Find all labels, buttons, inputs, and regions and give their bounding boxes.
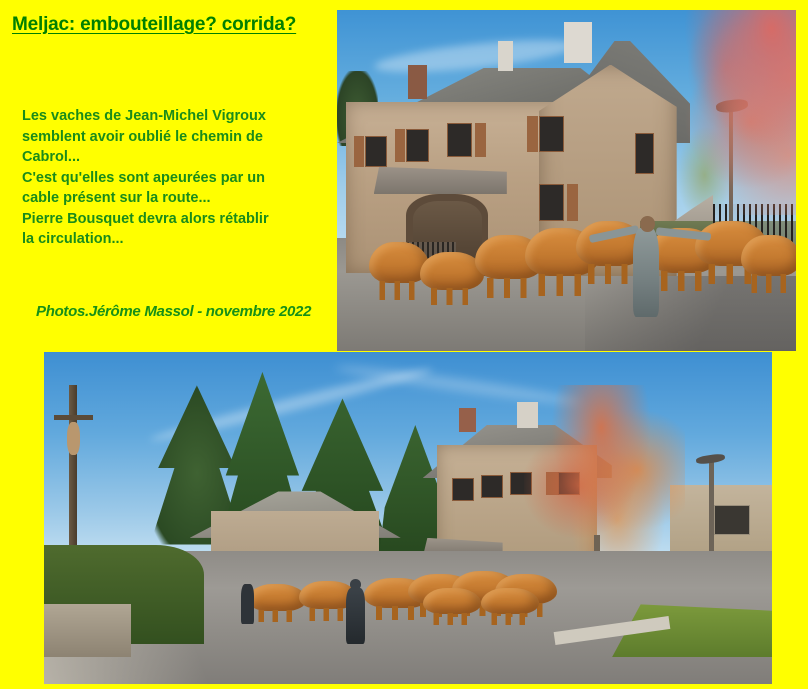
herder-head (640, 216, 655, 232)
crucifix-post (69, 385, 77, 558)
window (481, 475, 503, 498)
chimney (459, 408, 476, 431)
window-shutter (475, 123, 486, 157)
window (714, 505, 750, 535)
window-shutter (527, 116, 538, 152)
caption-line: la circulation... (22, 229, 322, 250)
cow (423, 588, 481, 615)
caption-line: Pierre Bousquet devra alors rétablir (22, 209, 322, 230)
herder-body (346, 588, 365, 644)
cow (741, 235, 796, 276)
window (406, 129, 429, 161)
autumn-tree (635, 10, 796, 215)
caption-line: C'est qu'elles sont apeurées par un (22, 168, 322, 189)
caption-line: Les vaches de Jean-Michel Vigroux (22, 106, 322, 127)
herder-body (633, 228, 659, 317)
cow (481, 588, 539, 615)
window (539, 116, 564, 152)
second-person (241, 584, 254, 624)
chimney (498, 41, 514, 72)
caption-line: semblent avoir oublié le chemin de (22, 127, 322, 148)
stone-wall (44, 604, 131, 657)
caption-line: Cabrol... (22, 147, 322, 168)
window (447, 123, 472, 157)
caption-text: Les vaches de Jean-Michel Vigroux semble… (22, 106, 322, 250)
window-shutter (354, 136, 364, 167)
slide-canvas: Meljac: embouteillage? corrida? Les vach… (0, 0, 808, 689)
window (452, 478, 474, 501)
crucifix-figure (67, 422, 80, 455)
chimney (564, 22, 592, 63)
chimney (408, 65, 426, 99)
window-shutter (567, 184, 578, 222)
photo-credit: Photos.Jérôme Massol - novembre 2022 (36, 303, 311, 320)
autumn-tree (524, 385, 684, 578)
street-lamp-post (709, 458, 714, 551)
crucifix-crossbar (54, 415, 93, 420)
photo-village-street-herd (44, 352, 772, 684)
window (365, 136, 388, 167)
page-title: Meljac: embouteillage? corrida? (12, 14, 296, 36)
photo-farmhouse-herd (337, 10, 796, 351)
cow (248, 584, 306, 611)
window (539, 184, 564, 222)
caption-line: cable présent sur la route... (22, 188, 322, 209)
window-shutter (395, 129, 405, 161)
